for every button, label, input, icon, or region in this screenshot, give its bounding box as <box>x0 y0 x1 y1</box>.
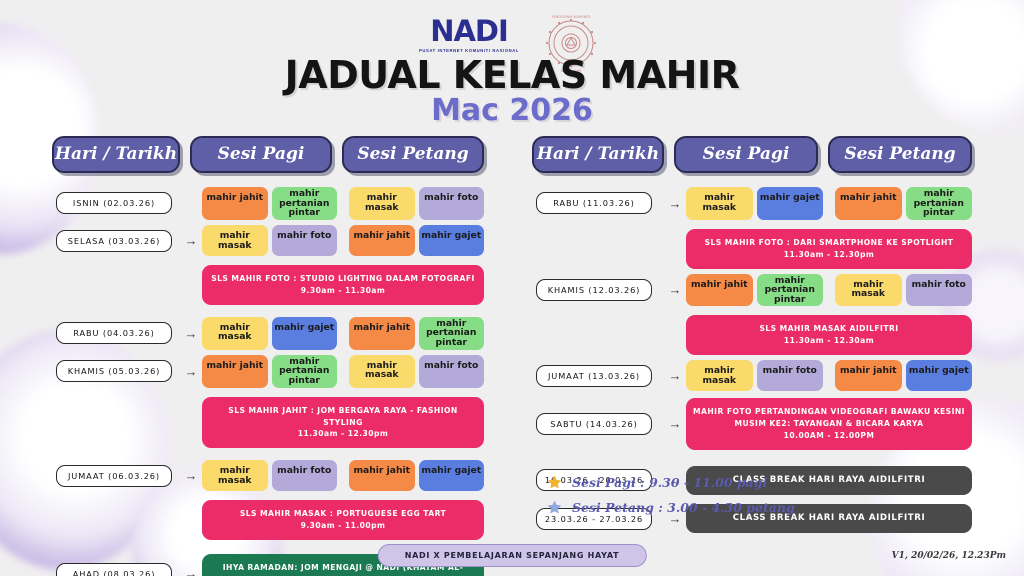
table-row: KHAMIS (12.03.26)→mahir jahitmahir perta… <box>532 274 972 307</box>
day-date-chip[interactable]: JUMAAT (13.03.26) <box>536 365 652 387</box>
banner-time: 11.30am - 12.30am <box>692 335 966 347</box>
table-row: RABU (04.03.26)→mahir masakmahir gajetma… <box>52 317 484 350</box>
class-chip[interactable]: mahir jahit <box>686 274 753 307</box>
table-row: KHAMIS (05.03.26)→mahir jahitmahir perta… <box>52 355 484 388</box>
session-banner[interactable]: SLS MAHIR JAHIT : JOM BERGAYA RAYA - FAS… <box>202 397 484 448</box>
class-chip[interactable]: mahir masak <box>202 225 268 256</box>
banner-title: MAHIR FOTO PERTANDINGAN VIDEOGRAFI BAWAK… <box>692 406 966 430</box>
column-header-evening: Sesi Petang <box>828 136 972 173</box>
page-title: JADUAL KELAS MAHIR <box>0 53 1024 97</box>
class-chip[interactable]: mahir gajet <box>906 360 973 391</box>
class-chip[interactable]: mahir jahit <box>202 355 268 388</box>
evening-session: mahir jahitmahir pertanian pintar <box>349 317 484 350</box>
nadi-wordmark: NADI <box>419 18 519 46</box>
banner-row: SLS MAHIR FOTO : DARI SMARTPHONE KE SPOT… <box>532 225 972 274</box>
morning-session: mahir masakmahir foto <box>686 360 823 391</box>
row-sessions: mahir jahitmahir pertanian pintarmahir m… <box>686 274 972 307</box>
banner-time: 9.30am - 11.00pm <box>208 520 478 532</box>
legend-label: Sesi Petang : 3.00 - 4.30 petang <box>572 500 795 515</box>
class-chip[interactable]: mahir jahit <box>835 187 902 220</box>
page-subtitle: Mac 2026 <box>0 93 1024 128</box>
day-date-chip[interactable]: SABTU (14.03.26) <box>536 413 652 435</box>
morning-session: mahir jahitmahir pertanian pintar <box>202 355 337 388</box>
class-chip[interactable]: mahir pertanian pintar <box>757 274 824 307</box>
class-chip[interactable]: mahir jahit <box>349 225 415 256</box>
table-header-left: Hari / Tarikh Sesi Pagi Sesi Petang <box>52 136 484 173</box>
class-chip[interactable]: mahir foto <box>906 274 973 307</box>
morning-session: mahir jahitmahir pertanian pintar <box>202 187 337 220</box>
row-arrow-icon: → <box>664 417 686 430</box>
row-sessions: mahir masakmahir fotomahir jahitmahir ga… <box>202 460 484 491</box>
banner-time: 10.00AM - 12.00PM <box>692 430 966 442</box>
column-header-evening: Sesi Petang <box>342 136 484 173</box>
legend: Sesi Pagi : 9.30 - 11.00 pagiSesi Petang… <box>546 474 795 524</box>
banner-row: SLS MAHIR MASAK AIDILFITRI11.30am - 12.3… <box>532 311 972 360</box>
class-chip[interactable]: mahir jahit <box>349 317 415 350</box>
day-cell: ISNIN (02.03.26) <box>52 192 180 214</box>
row-arrow-icon: → <box>180 234 202 247</box>
day-date-chip[interactable]: KHAMIS (12.03.26) <box>536 279 652 301</box>
banner-time: 11.30am - 12.30pm <box>208 428 478 440</box>
class-chip[interactable]: mahir jahit <box>835 360 902 391</box>
row-sessions: mahir masakmahir fotomahir jahitmahir ga… <box>686 360 972 391</box>
evening-session: mahir jahitmahir gajet <box>349 225 484 256</box>
day-cell: JUMAAT (06.03.26) <box>52 465 180 487</box>
version-stamp: V1, 20/02/26, 12.23Pm <box>892 551 1006 561</box>
table-row: JUMAAT (13.03.26)→mahir masakmahir fotom… <box>532 360 972 391</box>
class-chip[interactable]: mahir masak <box>202 460 268 491</box>
legend-label: Sesi Pagi : 9.30 - 11.00 pagi <box>572 475 767 490</box>
row-arrow-icon: → <box>664 197 686 210</box>
banner-indent <box>532 225 686 274</box>
table-row: ISNIN (02.03.26)mahir jahitmahir pertani… <box>52 187 484 220</box>
row-spacer <box>52 310 484 317</box>
row-sessions: mahir jahitmahir pertanian pintarmahir m… <box>202 355 484 388</box>
footer-pill: NADI X PEMBELAJARAN SEPANJANG HAYAT <box>378 544 647 567</box>
banner-indent <box>52 496 202 545</box>
class-chip[interactable]: mahir pertanian pintar <box>272 355 338 388</box>
column-header-day: Hari / Tarikh <box>52 136 180 173</box>
day-cell: KHAMIS (12.03.26) <box>532 279 664 301</box>
evening-session: mahir masakmahir foto <box>349 355 484 388</box>
day-cell: RABU (04.03.26) <box>52 322 180 344</box>
class-chip[interactable]: mahir gajet <box>757 187 824 220</box>
row-arrow-icon: → <box>180 365 202 378</box>
day-date-chip[interactable]: ISNIN (02.03.26) <box>56 192 172 214</box>
row-arrow-icon: → <box>664 369 686 382</box>
banner-indent <box>532 311 686 360</box>
day-cell: RABU (11.03.26) <box>532 192 664 214</box>
table-header-right: Hari / Tarikh Sesi Pagi Sesi Petang <box>532 136 972 173</box>
day-date-chip[interactable]: JUMAAT (06.03.26) <box>56 465 172 487</box>
table-row: SELASA (03.03.26)→mahir masakmahir fotom… <box>52 225 484 256</box>
row-arrow-icon: → <box>664 283 686 296</box>
morning-session: mahir jahitmahir pertanian pintar <box>686 274 823 307</box>
day-cell: AHAD (08.03.26) <box>52 563 180 576</box>
star-icon <box>546 474 563 491</box>
row-sessions: mahir masakmahir gajetmahir jahitmahir p… <box>202 317 484 350</box>
class-chip[interactable]: mahir jahit <box>349 460 415 491</box>
morning-session: mahir masakmahir foto <box>202 225 337 256</box>
row-spacer <box>532 457 972 464</box>
banner-title: SLS MAHIR MASAK AIDILFITRI <box>692 323 966 335</box>
evening-session: mahir masakmahir foto <box>835 274 972 307</box>
banner-title: SLS MAHIR JAHIT : JOM BERGAYA RAYA - FAS… <box>208 405 478 429</box>
day-cell: SELASA (03.03.26) <box>52 230 180 252</box>
day-date-chip[interactable]: AHAD (08.03.26) <box>56 563 172 576</box>
day-cell: JUMAAT (13.03.26) <box>532 365 664 387</box>
class-chip[interactable]: mahir foto <box>419 187 485 220</box>
day-date-chip[interactable]: RABU (04.03.26) <box>56 322 172 344</box>
nadi-tagline: PUSAT INTERNET KOMUNITI NASIONAL <box>419 48 519 53</box>
evening-session: mahir jahitmahir pertanian pintar <box>835 187 972 220</box>
class-chip[interactable]: mahir masak <box>202 317 268 350</box>
class-chip[interactable]: mahir masak <box>835 274 902 307</box>
day-date-chip[interactable]: RABU (11.03.26) <box>536 192 652 214</box>
banner-time: 9.30am - 11.30am <box>208 285 478 297</box>
row-arrow-icon: → <box>180 567 202 576</box>
morning-session: mahir masakmahir gajet <box>202 317 337 350</box>
session-banner[interactable]: SLS MAHIR MASAK AIDILFITRI11.30am - 12.3… <box>686 315 972 355</box>
session-banner[interactable]: SLS MAHIR FOTO : DARI SMARTPHONE KE SPOT… <box>686 229 972 269</box>
table-body-left: ISNIN (02.03.26)mahir jahitmahir pertani… <box>52 187 484 576</box>
morning-session: mahir masakmahir gajet <box>686 187 823 220</box>
svg-text:PENGGERAK KOMUNITI: PENGGERAK KOMUNITI <box>552 15 591 19</box>
table-row: JUMAAT (06.03.26)→mahir masakmahir fotom… <box>52 460 484 491</box>
class-chip[interactable]: mahir foto <box>272 460 338 491</box>
class-chip[interactable]: mahir gajet <box>272 317 338 350</box>
schedule-table-left: Hari / Tarikh Sesi Pagi Sesi Petang ISNI… <box>52 136 484 576</box>
nadi-logo: NADI PUSAT INTERNET KOMUNITI NASIONAL <box>419 12 519 53</box>
session-banner[interactable]: SLS MAHIR MASAK : PORTUGUESE EGG TART9.3… <box>202 500 484 540</box>
session-banner[interactable]: SLS MAHIR FOTO : STUDIO LIGHTING DALAM F… <box>202 265 484 305</box>
banner-title: SLS MAHIR MASAK : PORTUGUESE EGG TART <box>208 508 478 520</box>
row-sessions: mahir masakmahir gajetmahir jahitmahir p… <box>686 187 972 220</box>
day-cell: SABTU (14.03.26) <box>532 413 664 435</box>
banner-indent <box>52 261 202 310</box>
banner-indent <box>52 393 202 453</box>
day-date-chip[interactable]: KHAMIS (05.03.26) <box>56 360 172 382</box>
column-header-day: Hari / Tarikh <box>532 136 664 173</box>
banner-title: SLS MAHIR FOTO : DARI SMARTPHONE KE SPOT… <box>692 237 966 249</box>
table-row: SABTU (14.03.26)→MAHIR FOTO PERTANDINGAN… <box>532 396 972 451</box>
column-header-morning: Sesi Pagi <box>190 136 332 173</box>
star-icon <box>546 499 563 516</box>
poster: NADI PUSAT INTERNET KOMUNITI NASIONAL <box>0 0 1024 576</box>
class-chip[interactable]: mahir foto <box>272 225 338 256</box>
banner-row: SLS MAHIR FOTO : STUDIO LIGHTING DALAM F… <box>52 261 484 310</box>
morning-session: mahir masakmahir foto <box>202 460 337 491</box>
banner-row: SLS MAHIR MASAK : PORTUGUESE EGG TART9.3… <box>52 496 484 545</box>
evening-session: mahir jahitmahir gajet <box>349 460 484 491</box>
day-cell: KHAMIS (05.03.26) <box>52 360 180 382</box>
evening-session: mahir jahitmahir gajet <box>835 360 972 391</box>
row-sessions: mahir jahitmahir pertanian pintarmahir m… <box>202 187 484 220</box>
class-chip[interactable]: mahir gajet <box>419 460 485 491</box>
row-arrow-icon: → <box>180 327 202 340</box>
table-row: RABU (11.03.26)→mahir masakmahir gajetma… <box>532 187 972 220</box>
class-chip[interactable]: mahir masak <box>686 187 753 220</box>
class-chip[interactable]: mahir foto <box>419 355 485 388</box>
class-chip[interactable]: mahir pertanian pintar <box>272 187 338 220</box>
class-chip[interactable]: mahir pertanian pintar <box>906 187 973 220</box>
banner-row: SLS MAHIR JAHIT : JOM BERGAYA RAYA - FAS… <box>52 393 484 453</box>
class-chip[interactable]: mahir pertanian pintar <box>419 317 485 350</box>
class-chip[interactable]: mahir masak <box>349 187 415 220</box>
session-banner[interactable]: MAHIR FOTO PERTANDINGAN VIDEOGRAFI BAWAK… <box>686 398 972 449</box>
day-date-chip[interactable]: SELASA (03.03.26) <box>56 230 172 252</box>
class-chip[interactable]: mahir gajet <box>419 225 485 256</box>
banner-title: SLS MAHIR FOTO : STUDIO LIGHTING DALAM F… <box>208 273 478 285</box>
column-header-morning: Sesi Pagi <box>674 136 818 173</box>
row-sessions: mahir masakmahir fotomahir jahitmahir ga… <box>202 225 484 256</box>
class-chip[interactable]: mahir masak <box>686 360 753 391</box>
legend-item: Sesi Petang : 3.00 - 4.30 petang <box>546 499 795 516</box>
banner-time: 11.30am - 12.30pm <box>692 249 966 261</box>
row-arrow-icon: → <box>180 469 202 482</box>
class-chip[interactable]: mahir foto <box>757 360 824 391</box>
class-chip[interactable]: mahir masak <box>349 355 415 388</box>
row-spacer <box>52 453 484 460</box>
class-chip[interactable]: mahir jahit <box>202 187 268 220</box>
evening-session: mahir masakmahir foto <box>349 187 484 220</box>
legend-item: Sesi Pagi : 9.30 - 11.00 pagi <box>546 474 795 491</box>
